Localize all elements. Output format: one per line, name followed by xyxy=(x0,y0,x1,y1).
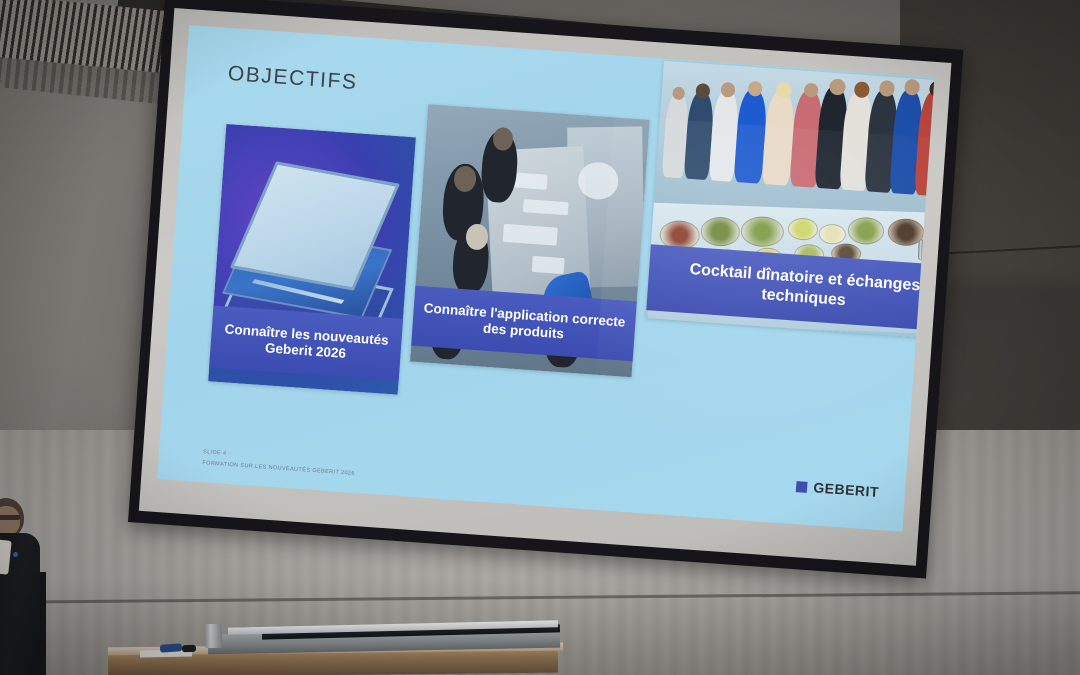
page-title: OBJECTIFS xyxy=(227,62,358,95)
demo-part xyxy=(503,223,557,245)
food-platter xyxy=(741,215,785,246)
projection-screen: OBJECTIFS Connaître les nouveautés Geber… xyxy=(128,0,963,579)
crowd-person-head xyxy=(829,78,846,95)
slide-footer: SLIDE 4 FORMATION SUR LES NOUVEAUTÉS GEB… xyxy=(202,447,356,479)
crowd-person-head xyxy=(904,79,921,96)
screen-surface: OBJECTIFS Connaître les nouveautés Geber… xyxy=(139,8,952,566)
geberit-logo: GEBERIT xyxy=(796,478,880,500)
blue-object xyxy=(160,643,183,653)
presenter-lapel-pin xyxy=(13,552,18,557)
square-mark-icon xyxy=(796,481,808,493)
screenshot-stage: OBJECTIFS Connaître les nouveautés Geber… xyxy=(0,0,1080,675)
metal-cup xyxy=(205,624,222,648)
panel-1-caption: Connaître les nouveautés Geberit 2026 xyxy=(209,305,403,380)
food-platter xyxy=(847,217,884,245)
presentation-slide: OBJECTIFS Connaître les nouveautés Geber… xyxy=(157,25,934,532)
food-platter xyxy=(700,216,740,246)
food-platter xyxy=(819,223,847,244)
food-platter xyxy=(788,217,819,241)
demo-part xyxy=(511,172,548,190)
food-platter xyxy=(918,239,934,261)
group-photo-area xyxy=(654,61,935,227)
glasses-icon xyxy=(0,515,20,520)
demo-part xyxy=(532,256,564,274)
presenter xyxy=(0,498,44,675)
logo-text: GEBERIT xyxy=(813,479,880,500)
dark-object xyxy=(182,645,196,652)
